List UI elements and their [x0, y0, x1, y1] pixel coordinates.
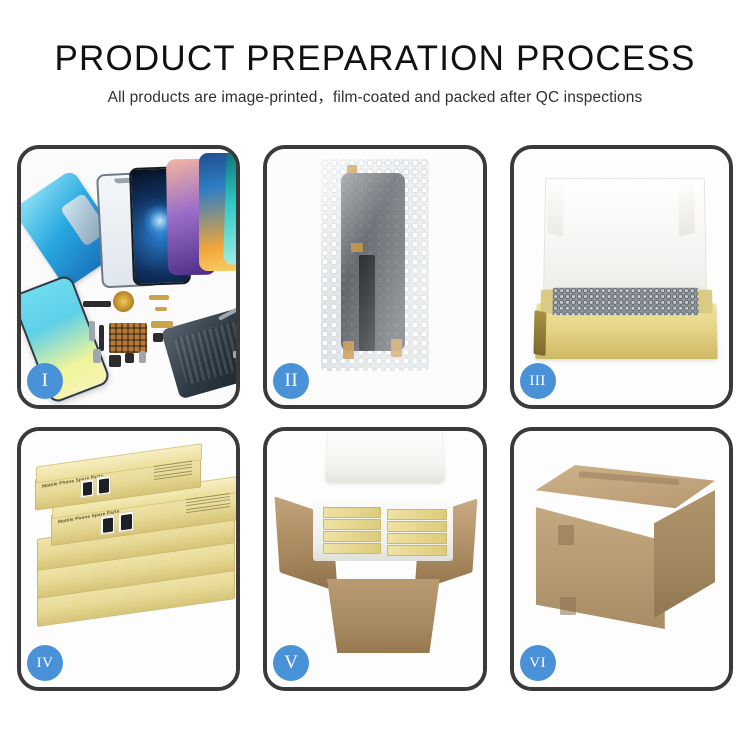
inner-yellow-box-1 — [323, 507, 381, 518]
panel-step-2[interactable]: II — [263, 145, 486, 409]
carton-side-face — [654, 490, 715, 618]
step-numeral-5: V — [284, 652, 298, 674]
box-yellow-tray-icon — [535, 303, 718, 359]
sealed-carton-icon — [536, 465, 715, 663]
part-chip-3 — [155, 307, 167, 311]
step-badge-3: III — [520, 363, 556, 399]
phone-back-housing-icon — [161, 307, 241, 400]
step-badge-6: VI — [520, 645, 556, 681]
box-thumb-1a — [80, 478, 94, 498]
carton-front-face — [536, 507, 665, 629]
part-chip-5 — [99, 325, 104, 351]
panel-step-3[interactable]: III — [510, 145, 733, 409]
page-title: PRODUCT PREPARATION PROCESS — [0, 40, 750, 78]
step-numeral-3: III — [529, 373, 546, 390]
lid-flap-left — [547, 181, 564, 237]
pcb-board-icon — [109, 323, 147, 353]
step-badge-4: IV — [27, 645, 63, 681]
speaker-coil-icon — [113, 291, 134, 312]
box-stack-icon: Mobile Phone Spare Parts Mobile Phone Sp… — [35, 453, 228, 665]
lid-flap-right — [677, 181, 694, 237]
panel-step-4[interactable]: Mobile Phone Spare Parts Mobile Phone Sp… — [17, 427, 240, 691]
inner-yellow-box-7 — [387, 533, 447, 544]
inner-yellow-box-6 — [387, 521, 447, 532]
product-preparation-infographic: PRODUCT PREPARATION PROCESS All products… — [0, 0, 750, 750]
part-chip-2 — [149, 295, 169, 300]
panel-step-1[interactable]: I — [17, 145, 240, 409]
part-chip-11 — [139, 351, 146, 363]
box-spec-lines-2 — [186, 493, 230, 515]
box-thumb-2b — [118, 511, 134, 533]
part-chip-13 — [233, 351, 240, 358]
inner-yellow-box-5 — [387, 509, 447, 520]
part-chip-8 — [93, 349, 101, 363]
step-numeral-2: II — [285, 370, 299, 392]
step-numeral-4: IV — [37, 655, 54, 672]
process-step-grid: I II — [17, 145, 733, 691]
shipping-carton-open-icon — [283, 457, 466, 661]
part-chip-7 — [153, 333, 163, 342]
inner-box-icon — [536, 171, 717, 365]
part-chip-6 — [151, 321, 173, 328]
carton-tape-lower — [560, 597, 576, 615]
part-chip-1 — [83, 301, 111, 307]
carton-tape-upper — [558, 525, 574, 545]
part-chip-10 — [125, 353, 134, 363]
step-badge-1: I — [27, 363, 63, 399]
tray-left-edge — [533, 310, 546, 356]
inner-yellow-box-3 — [323, 531, 381, 542]
wrap-sheen — [321, 159, 429, 371]
bubble-wrap-pouch-icon — [321, 159, 429, 371]
step-numeral-6: VI — [529, 655, 546, 672]
carton-body — [319, 579, 447, 653]
panel-step-6[interactable]: VI — [510, 427, 733, 691]
inner-yellow-box-2 — [323, 519, 381, 530]
box-spec-lines-1 — [154, 461, 192, 482]
inner-yellow-box-8 — [387, 545, 447, 556]
inner-yellow-box-4 — [323, 543, 381, 554]
part-chip-9 — [109, 355, 121, 367]
step-numeral-1: I — [42, 370, 49, 392]
part-chip-4 — [89, 321, 95, 341]
box-thumb-2a — [100, 514, 115, 535]
foam-lid-icon — [325, 427, 445, 483]
part-chip-14 — [237, 361, 240, 367]
page-subtitle: All products are image-printed，film-coat… — [0, 88, 750, 107]
panel-step-5[interactable]: V — [263, 427, 486, 691]
phone-teal-icon — [223, 148, 240, 265]
box-thumb-1b — [96, 475, 111, 496]
header: PRODUCT PREPARATION PROCESS All products… — [0, 0, 750, 107]
foam-insert-icon — [313, 499, 453, 561]
bubble-filler-icon — [552, 288, 699, 315]
